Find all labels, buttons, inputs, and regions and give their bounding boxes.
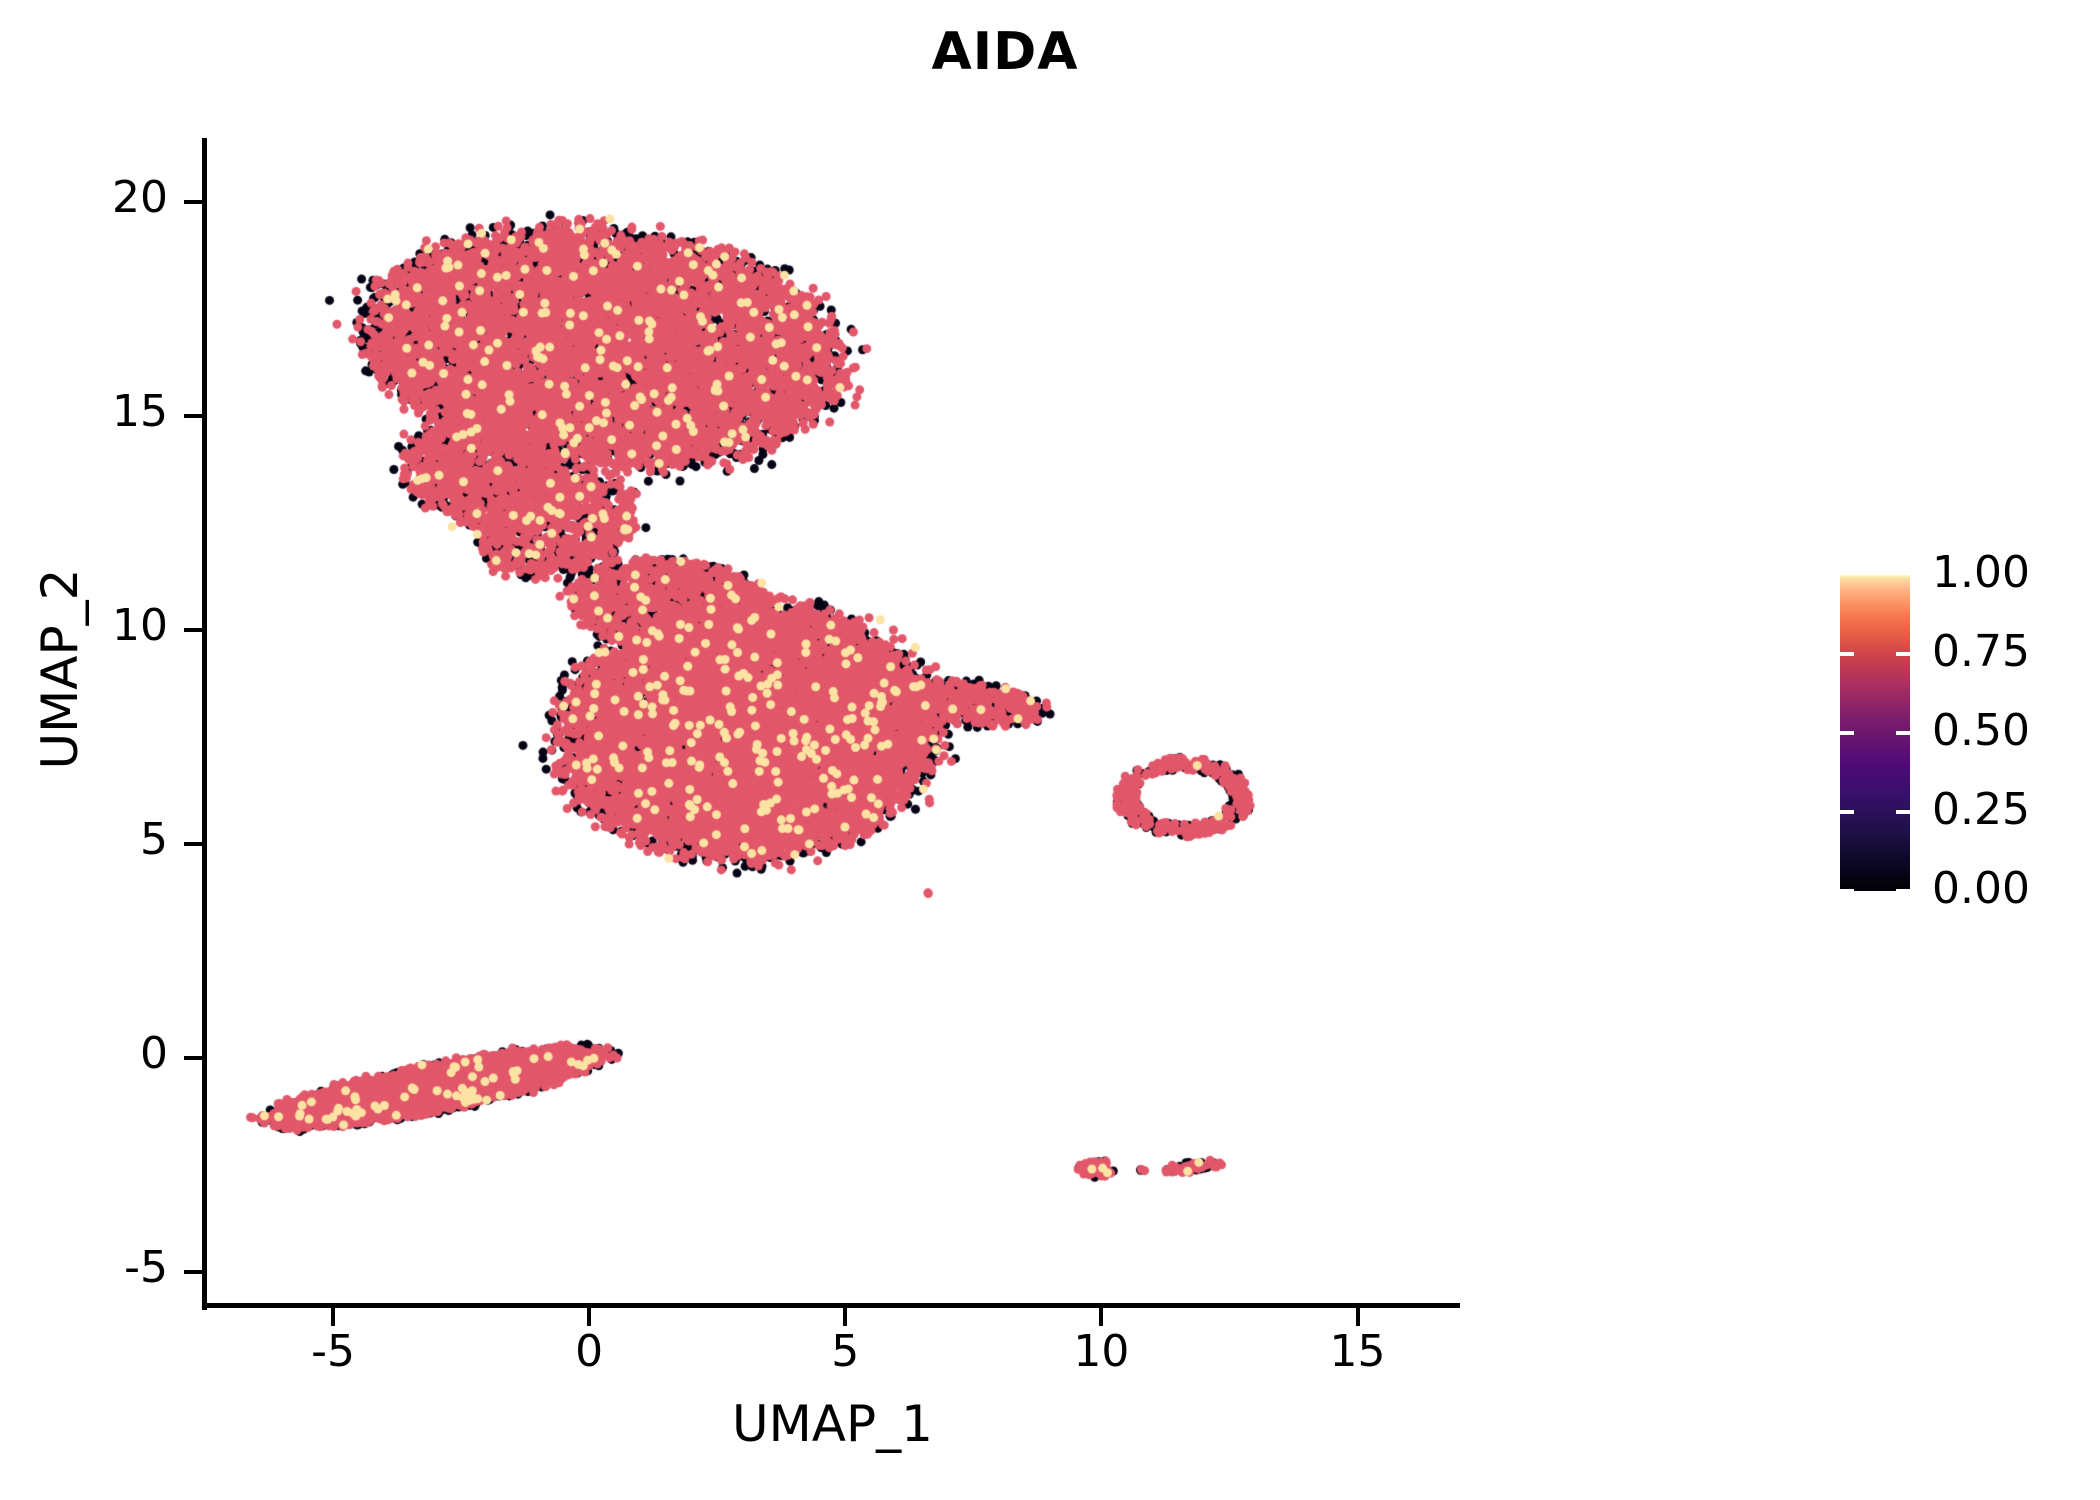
umap-scatter-figure: AIDA -505101520 -5051015 UMAP_1 UMAP_2 1… <box>0 0 2100 1500</box>
x-tick-label: 0 <box>489 1330 689 1374</box>
x-tick-mark <box>843 1308 847 1326</box>
colorbar-tick-label: 1.00 <box>1932 551 2030 595</box>
chart-title: AIDA <box>0 22 2010 82</box>
x-tick-mark <box>1099 1308 1103 1326</box>
colorbar-tick-mark <box>1840 810 1854 814</box>
colorbar-tick-mark <box>1896 889 1910 893</box>
colorbar-tick-label: 0.25 <box>1932 788 2030 832</box>
x-tick-mark <box>1356 1308 1360 1326</box>
x-tick-label: 5 <box>745 1330 945 1374</box>
y-axis-label: UMAP_2 <box>31 269 89 1069</box>
colorbar-tick-mark <box>1896 810 1910 814</box>
x-tick-mark <box>587 1308 591 1326</box>
y-tick-mark <box>184 1056 202 1060</box>
colorbar-tick-mark <box>1896 652 1910 656</box>
colorbar-tick-mark <box>1840 889 1854 893</box>
y-tick-mark <box>184 200 202 204</box>
plot-area <box>205 138 1460 1306</box>
x-tick-label: 10 <box>1001 1330 1201 1374</box>
colorbar-tick-mark <box>1896 731 1910 735</box>
colorbar-tick-label: 0.00 <box>1932 867 2030 911</box>
colorbar: 1.000.750.500.250.00 <box>1840 575 2080 895</box>
colorbar-tick-mark <box>1840 652 1854 656</box>
colorbar-tick-label: 0.50 <box>1932 709 2030 753</box>
x-tick-mark <box>331 1308 335 1326</box>
x-tick-label: -5 <box>233 1330 433 1374</box>
y-tick-mark <box>184 1270 202 1274</box>
y-tick-mark <box>184 628 202 632</box>
y-tick-label: -5 <box>0 1246 168 1290</box>
colorbar-tick-label: 0.75 <box>1932 630 2030 674</box>
y-tick-label: 20 <box>0 176 168 220</box>
x-axis-spine <box>202 1303 1460 1308</box>
y-tick-mark <box>184 414 202 418</box>
x-axis-label: UMAP_1 <box>205 1395 1460 1453</box>
y-tick-mark <box>184 842 202 846</box>
colorbar-tick-mark <box>1840 731 1854 735</box>
x-tick-label: 15 <box>1258 1330 1458 1374</box>
y-axis-spine <box>202 138 207 1310</box>
scatter-points-layer <box>205 138 1460 1306</box>
